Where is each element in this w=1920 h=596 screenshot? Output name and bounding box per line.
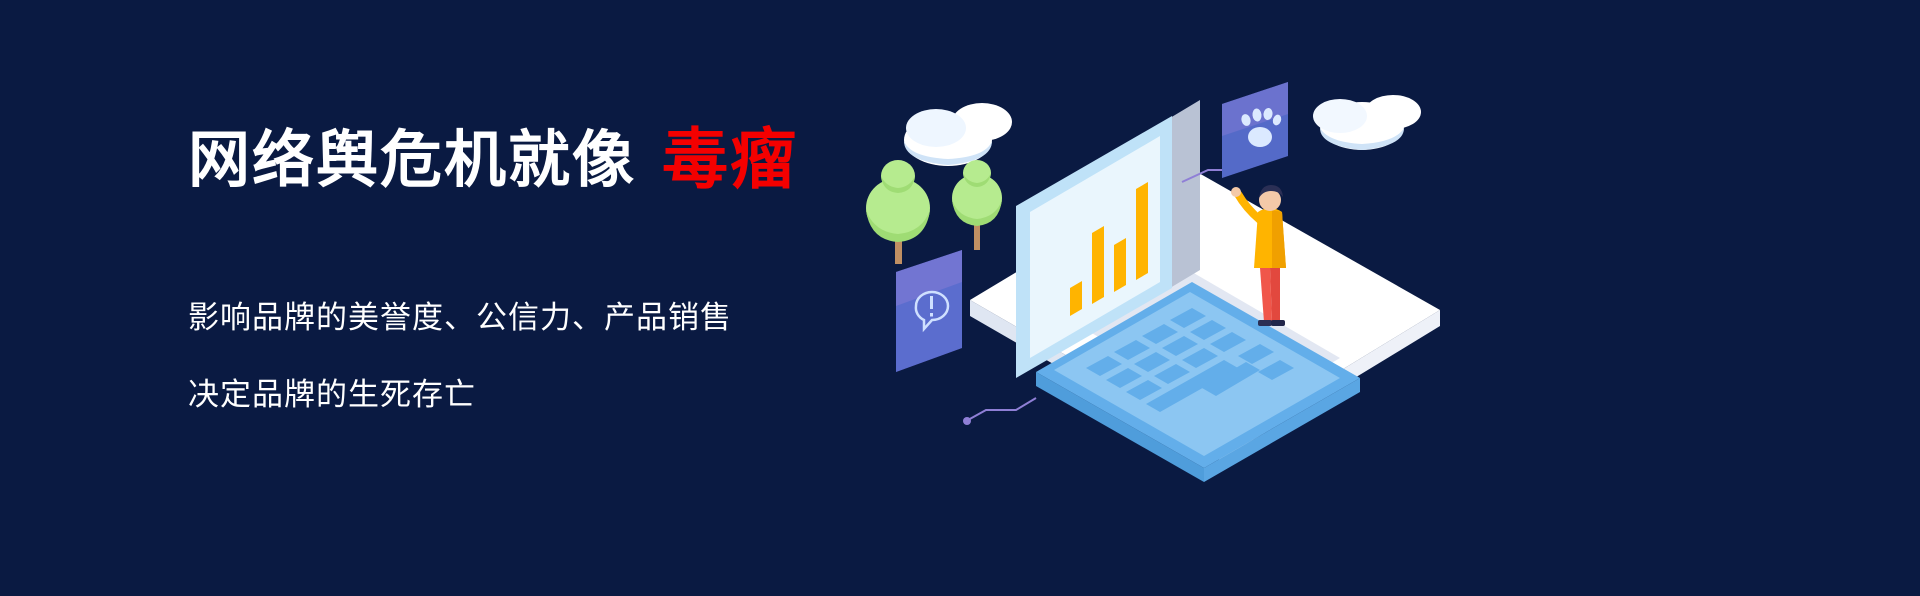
headline-main-text: 网络舆危机就像 [188, 130, 636, 192]
connector-dot [963, 417, 971, 425]
cloud-icon [904, 103, 1012, 166]
subtitle-line-1: 影响品牌的美誉度、公信力、产品销售 [188, 292, 948, 337]
page-title: 网络舆危机就像 毒瘤 [188, 126, 948, 192]
connector-line [968, 398, 1036, 420]
headline-accent-text: 毒瘤 [662, 126, 798, 192]
paw-print-panel-icon [1222, 82, 1288, 178]
tree-icon [866, 160, 930, 264]
illustration [840, 0, 1920, 596]
subtitle-line-2: 决定品牌的生死存亡 [188, 369, 948, 414]
alert-bubble-panel-icon [896, 250, 962, 372]
tree-icon [952, 160, 1002, 250]
hero-banner: 网络舆危机就像 毒瘤 影响品牌的美誉度、公信力、产品销售 决定品牌的生死存亡 [0, 0, 1920, 596]
cloud-icon [1313, 95, 1421, 150]
hero-copy-block: 网络舆危机就像 毒瘤 影响品牌的美誉度、公信力、产品销售 决定品牌的生死存亡 [188, 126, 948, 414]
